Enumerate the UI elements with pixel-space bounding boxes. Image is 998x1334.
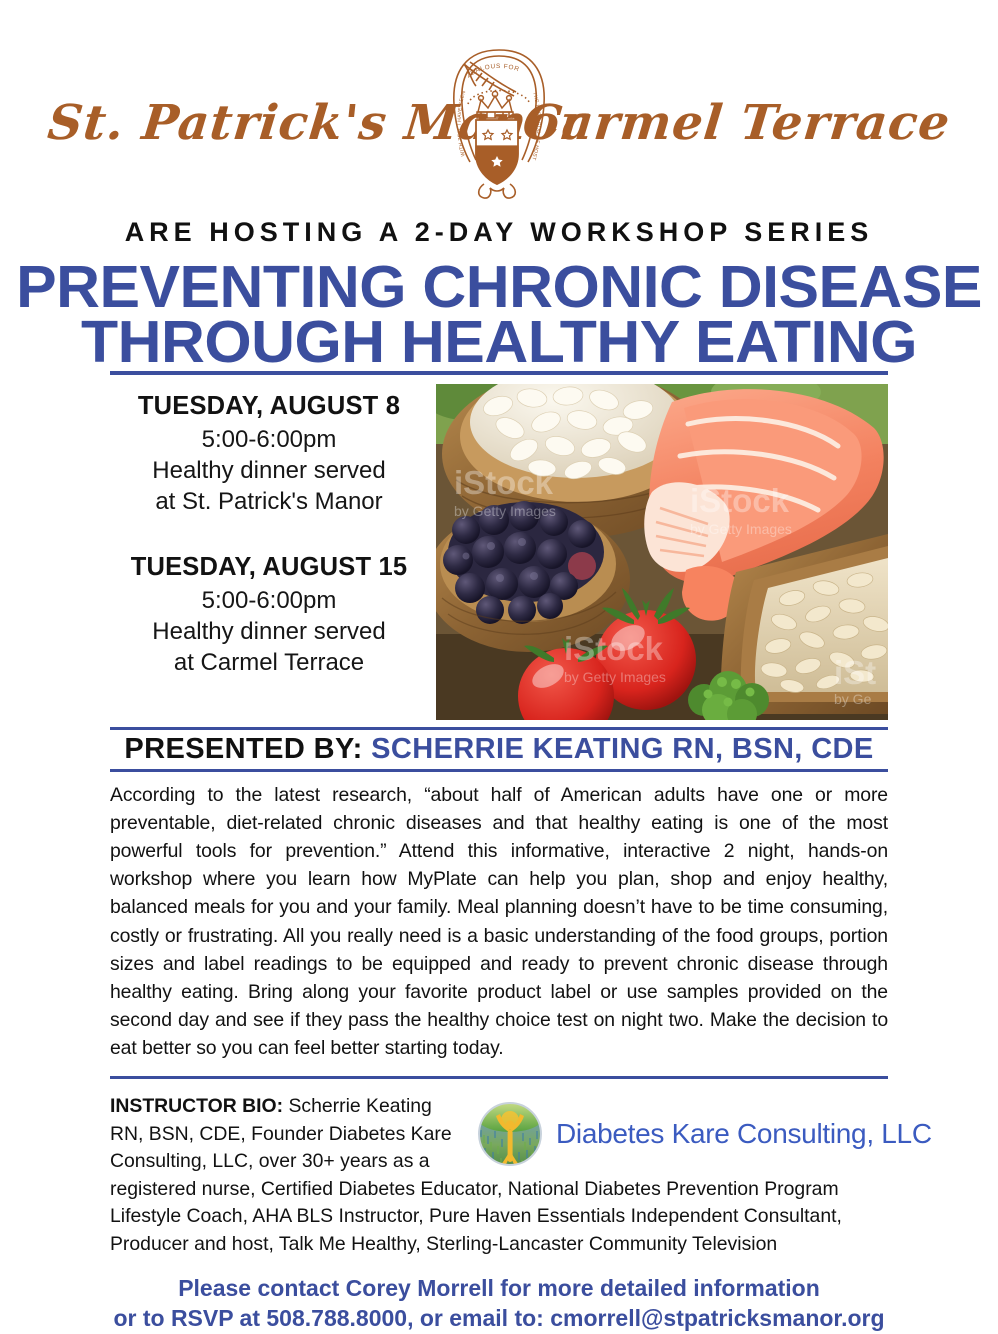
contact-line-1: Please contact Corey Morrell for more de… xyxy=(110,1274,888,1304)
date-time: 5:00-6:00pm xyxy=(110,424,428,455)
date-day: TUESDAY, AUGUST 15 xyxy=(110,551,428,585)
svg-text:iStock: iStock xyxy=(564,630,664,667)
svg-text:by Getty Images: by Getty Images xyxy=(564,669,666,685)
svg-text:by Getty Images: by Getty Images xyxy=(690,521,792,537)
date-time: 5:00-6:00pm xyxy=(110,585,428,616)
date-meal: Healthy dinner served xyxy=(110,455,428,486)
date-block: TUESDAY, AUGUST 8 5:00-6:00pm Healthy di… xyxy=(110,390,428,517)
details-section: TUESDAY, AUGUST 8 5:00-6:00pm Healthy di… xyxy=(110,384,888,722)
svg-text:by Ge: by Ge xyxy=(834,691,872,707)
date-venue: at St. Patrick's Manor xyxy=(110,486,428,517)
contact-line-2: or to RSVP at 508.788.8000, or email to:… xyxy=(110,1304,888,1334)
divider-above-bio xyxy=(110,1076,888,1079)
diabetes-kare-logo-icon xyxy=(476,1100,544,1168)
date-meal: Healthy dinner served xyxy=(110,616,428,647)
diabetes-kare-logo-lockup: Diabetes Kare Consulting, LLC xyxy=(476,1095,888,1173)
eyebrow-text: ARE HOSTING A 2-DAY WORKSHOP SERIES xyxy=(0,217,998,248)
diabetes-kare-wordmark: Diabetes Kare Consulting, LLC xyxy=(556,1114,932,1154)
date-spacer xyxy=(110,521,428,551)
date-day: TUESDAY, AUGUST 8 xyxy=(110,390,428,424)
date-block: TUESDAY, AUGUST 15 5:00-6:00pm Healthy d… xyxy=(110,551,428,678)
date-venue: at Carmel Terrace xyxy=(110,647,428,678)
brand-name-carmel-terrace: Carmel Terrace xyxy=(520,95,953,151)
page-title: PREVENTING CHRONIC DISEASE THROUGH HEALT… xyxy=(0,260,998,371)
svg-text:WITH ZEAL I HAVE BEEN: WITH ZEAL I HAVE BEEN xyxy=(457,90,468,157)
presenter-name: SCHERRIE KEATING RN, BSN, CDE xyxy=(371,733,874,765)
healthy-food-photo: iStock by Getty Images iStock by Getty I… xyxy=(436,384,888,720)
photo-watermark: iStock xyxy=(454,464,554,501)
presented-by-section: PRESENTED BY: SCHERRIE KEATING RN, BSN, … xyxy=(110,727,888,772)
description-paragraph: According to the latest research, “about… xyxy=(110,781,888,1062)
presented-by-line: PRESENTED BY: SCHERRIE KEATING RN, BSN, … xyxy=(110,730,888,769)
svg-text:iStock: iStock xyxy=(690,482,790,519)
svg-text:by Getty Images: by Getty Images xyxy=(454,503,556,519)
flyer-header: St. Patrick's Manor xyxy=(0,0,998,205)
instructor-bio-label: INSTRUCTOR BIO: xyxy=(110,1095,283,1117)
crest-motto-left: WITH ZEAL I HAVE BEEN xyxy=(457,90,468,157)
contact-footer: Please contact Corey Morrell for more de… xyxy=(110,1274,888,1334)
date-list: TUESDAY, AUGUST 8 5:00-6:00pm Healthy di… xyxy=(110,390,428,682)
title-line-2: THROUGH HEALTHY EATING xyxy=(0,315,998,370)
svg-text:iSt: iSt xyxy=(834,654,876,691)
divider-below-presenter xyxy=(110,769,888,772)
instructor-bio-section: Diabetes Kare Consulting, LLC INSTRUCTOR… xyxy=(110,1093,888,1258)
presented-by-label: PRESENTED BY: xyxy=(124,733,362,765)
